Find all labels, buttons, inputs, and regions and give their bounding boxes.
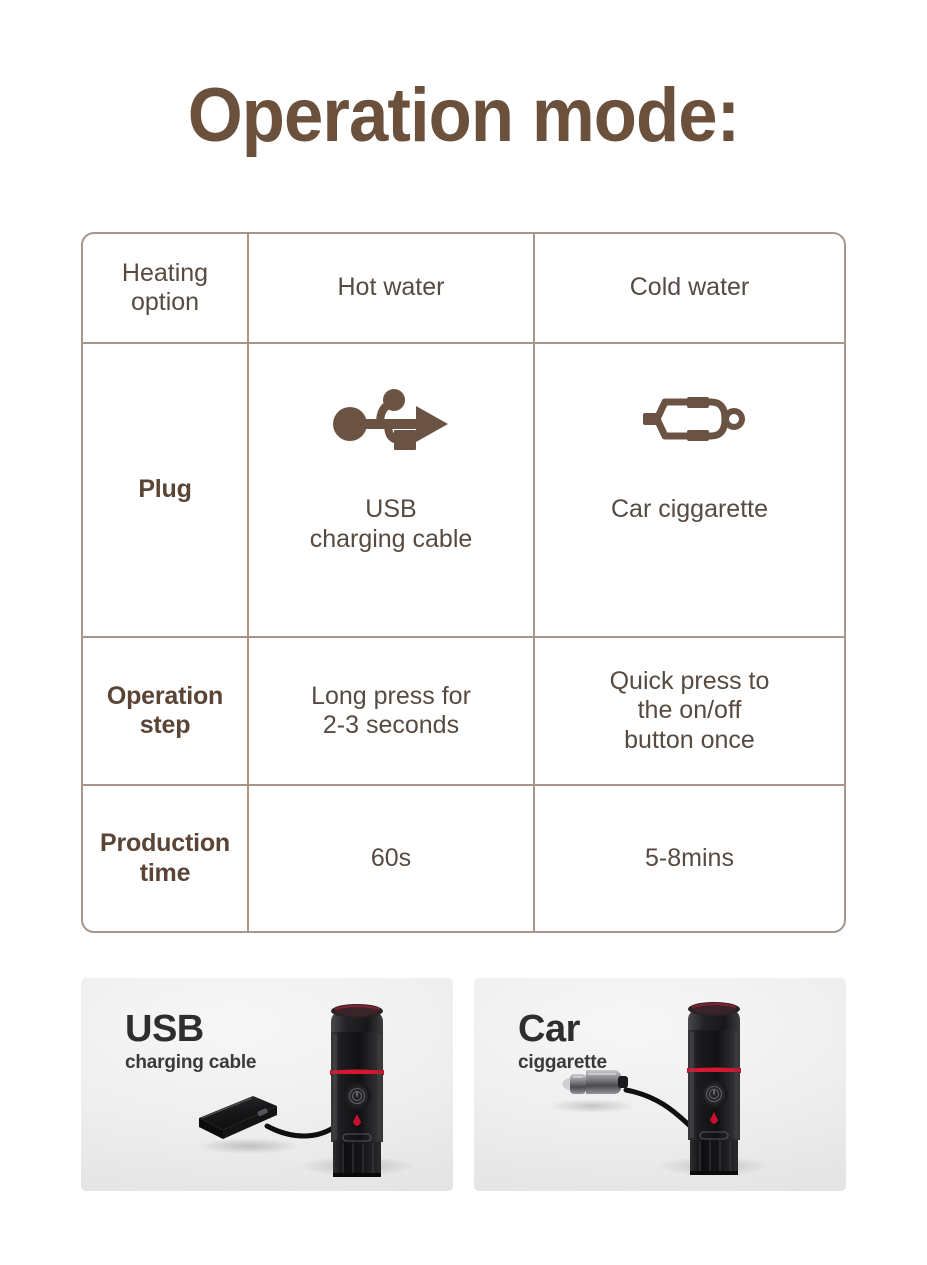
car-cigarette-plug-icon: [631, 344, 749, 494]
power-bank: [199, 1096, 277, 1139]
table-header-row: Heating option Hot water Cold water: [83, 234, 844, 344]
row-label-plug-line1: Plug: [138, 475, 191, 505]
plug-cold-line1: Car ciggarette: [611, 494, 768, 524]
photo-card-usb: USB charging cable: [81, 978, 453, 1191]
table-row: Production time 60s 5-8mins: [83, 786, 844, 931]
row-label-time-line2: time: [140, 859, 191, 889]
row-label-operation-step: Operation step: [83, 638, 249, 784]
step-cold-line3: button once: [624, 726, 755, 756]
step-hot-line2: 2-3 seconds: [323, 711, 459, 741]
photo-card-car: Car ciggarette: [474, 978, 846, 1191]
coffee-maker-device: [330, 1004, 384, 1177]
photo-caption-car-sub: ciggarette: [518, 1052, 607, 1074]
row-label-production-time: Production time: [83, 786, 249, 931]
photo-caption-car-main: Car: [518, 1010, 607, 1048]
page-title: Operation mode:: [32, 78, 894, 154]
usb-icon: [332, 344, 450, 494]
cell-time-hot: 60s: [249, 786, 535, 931]
table-row: Plug USB charging cab: [83, 344, 844, 638]
cell-step-hot: Long press for 2-3 seconds: [249, 638, 535, 784]
cell-step-cold: Quick press to the on/off button once: [535, 638, 844, 784]
coffee-maker-device: [687, 1002, 741, 1175]
step-hot-line1: Long press for: [311, 682, 471, 712]
plug-hot-line1: USB: [310, 494, 473, 524]
row-label-plug: Plug: [83, 344, 249, 636]
cell-plug-cold-caption: Car ciggarette: [611, 494, 768, 524]
cell-time-cold: 5-8mins: [535, 786, 844, 931]
row-label-step-line1: Operation: [107, 682, 223, 712]
header-cell-hot-water: Hot water: [249, 234, 535, 342]
header-cell-heating-option: Heating option: [83, 234, 249, 342]
row-label-step-line2: step: [140, 711, 191, 741]
photo-caption-usb-sub: charging cable: [125, 1052, 256, 1074]
photo-caption-usb: USB charging cable: [125, 1010, 256, 1074]
table-row: Operation step Long press for 2-3 second…: [83, 638, 844, 786]
heating-option-line2: option: [131, 288, 199, 318]
product-photo-row: USB charging cable: [81, 978, 846, 1191]
operation-mode-table: Heating option Hot water Cold water Plug: [81, 232, 846, 933]
step-cold-line1: Quick press to: [610, 667, 770, 697]
photo-caption-usb-main: USB: [125, 1010, 256, 1048]
cell-plug-hot-caption: USB charging cable: [310, 494, 473, 554]
heating-option-line1: Heating: [122, 259, 208, 289]
cell-plug-hot: USB charging cable: [249, 344, 535, 636]
row-label-time-line1: Production: [100, 829, 230, 859]
step-cold-line2: the on/off: [638, 696, 742, 726]
cell-plug-cold: Car ciggarette: [535, 344, 844, 636]
header-cell-cold-water: Cold water: [535, 234, 844, 342]
plug-hot-line2: charging cable: [310, 524, 473, 554]
photo-caption-car: Car ciggarette: [518, 1010, 607, 1074]
